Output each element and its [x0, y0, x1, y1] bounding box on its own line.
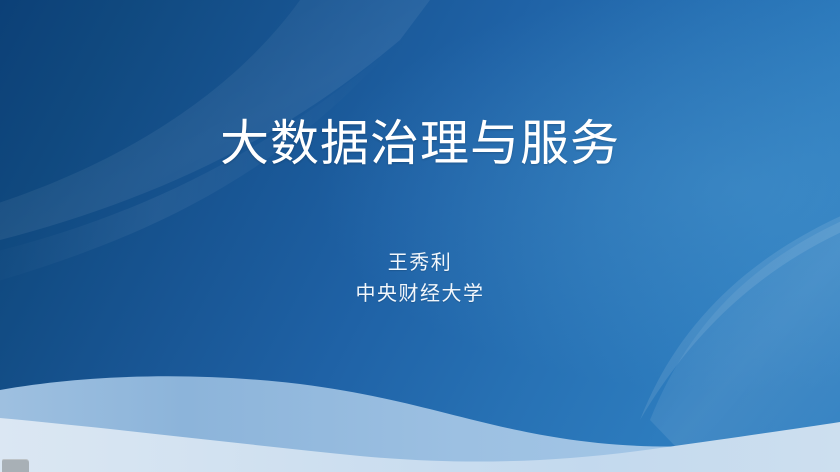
slide-title: 大数据治理与服务 — [0, 113, 840, 175]
subtitle-block: 王秀利 中央财经大学 — [0, 248, 840, 310]
slide-content: 大数据治理与服务 王秀利 中央财经大学 — [0, 0, 840, 472]
bottom-left-corner-chip[interactable] — [2, 459, 29, 472]
subtitle-affiliation: 中央财经大学 — [0, 279, 840, 310]
slide-viewer: 大数据治理与服务 王秀利 中央财经大学 — [0, 0, 840, 472]
subtitle-author: 王秀利 — [0, 248, 840, 279]
title-block: 大数据治理与服务 — [0, 113, 840, 175]
